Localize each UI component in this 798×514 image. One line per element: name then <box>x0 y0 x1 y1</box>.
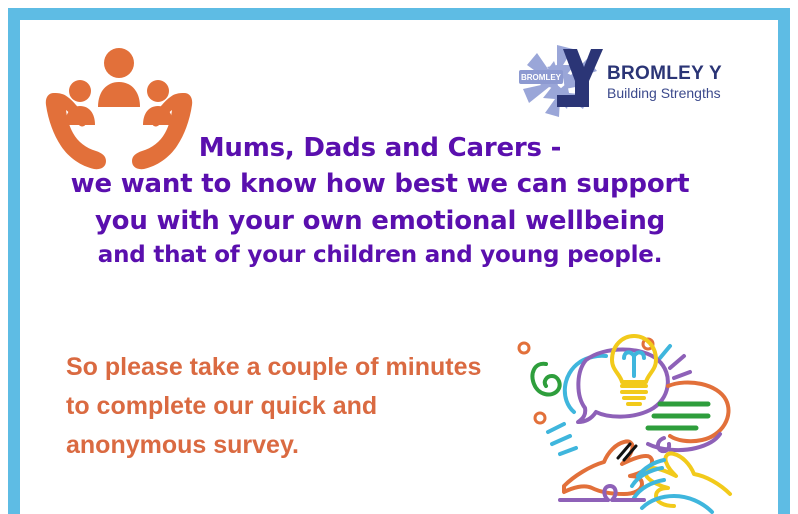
cta-line-3: anonymous survey. <box>66 426 536 465</box>
poster-canvas: BROMLEY BROMLEY Y Building Strengths Mum… <box>0 0 798 514</box>
border-top <box>8 8 790 20</box>
collaboration-speech-bubbles-illustration <box>512 326 752 514</box>
headline-block: Mums, Dads and Carers - we want to know … <box>60 130 700 271</box>
logo-wordmark: BROMLEY Y Building Strengths <box>607 64 722 100</box>
logo-tagline: Building Strengths <box>607 86 722 100</box>
bromley-y-logo: BROMLEY BROMLEY Y Building Strengths <box>517 42 737 122</box>
bromley-y-pinwheel-logo-icon: BROMLEY <box>517 43 603 121</box>
border-left <box>8 8 20 514</box>
cta-block: So please take a couple of minutes to co… <box>66 348 536 464</box>
cta-line-1: So please take a couple of minutes <box>66 348 536 387</box>
logo-title: BROMLEY Y <box>607 64 722 83</box>
headline-line-2: we want to know how best we can support <box>60 166 700 202</box>
headline-line-3: you with your own emotional wellbeing <box>60 203 700 239</box>
cta-line-2: to complete our quick and <box>66 387 536 426</box>
headline-line-4: and that of your children and young peop… <box>60 239 700 271</box>
headline-line-1: Mums, Dads and Carers - <box>60 130 700 166</box>
logo-badge-text: BROMLEY <box>521 73 562 82</box>
border-right <box>778 8 790 514</box>
